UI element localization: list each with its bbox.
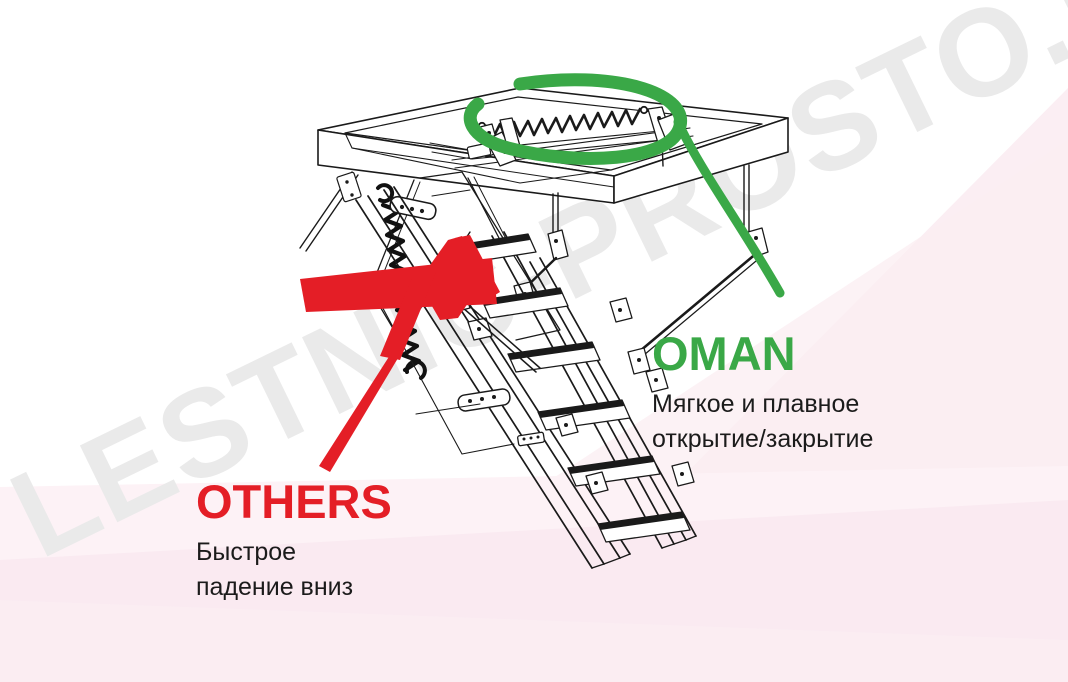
others-description-line-2: падение вниз (196, 570, 496, 605)
green-circle-marker (470, 80, 780, 293)
red-arrow-marker (300, 235, 500, 472)
others-description-line-1: Быстрое (196, 535, 496, 570)
oman-brand-label: OMAN (652, 330, 982, 377)
others-description: Быстрое падение вниз (196, 535, 496, 605)
oman-callout: OMAN Мягкое и плавное открытие/закрытие (652, 330, 982, 457)
oman-description-line-2: открытие/закрытие (652, 422, 982, 457)
others-callout: OTHERS Быстрое падение вниз (196, 478, 496, 605)
others-brand-label: OTHERS (196, 478, 496, 525)
oman-description: Мягкое и плавное открытие/закрытие (652, 387, 982, 457)
infographic-canvas: LESTNIC-PROSTO.RU (0, 0, 1068, 682)
oman-description-line-1: Мягкое и плавное (652, 387, 982, 422)
